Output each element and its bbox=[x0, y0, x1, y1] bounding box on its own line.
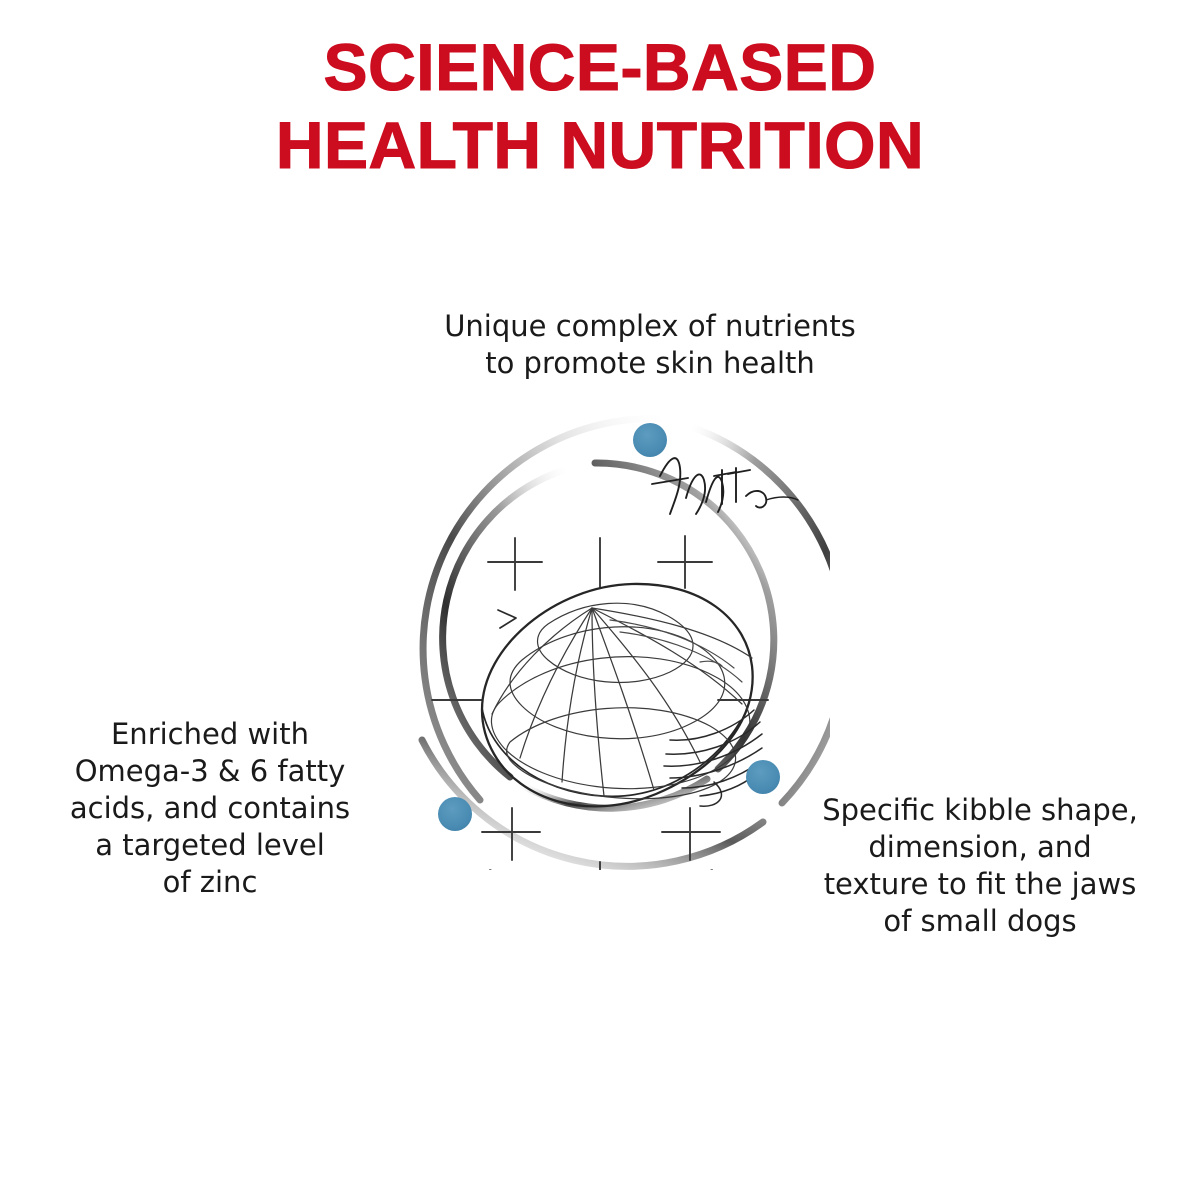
footer bbox=[0, 1090, 1200, 1200]
page-title-line-2: HEALTH NUTRITION bbox=[0, 106, 1200, 184]
outer-ring bbox=[422, 419, 830, 867]
page-title-line-1: SCIENCE-BASED bbox=[0, 28, 1200, 106]
marker-dot-bottom-left[interactable] bbox=[438, 797, 472, 831]
kibble-highlight bbox=[610, 620, 742, 682]
marker-dot-top[interactable] bbox=[633, 423, 667, 457]
kibble-diagram bbox=[370, 410, 830, 870]
designer-signature bbox=[652, 458, 798, 514]
kibble-arrow-tick bbox=[498, 610, 516, 628]
marker-dot-right[interactable] bbox=[746, 760, 780, 794]
page-title: SCIENCE-BASED HEALTH NUTRITION bbox=[0, 28, 1200, 184]
page-root: SCIENCE-BASED HEALTH NUTRITION Unique co… bbox=[0, 0, 1200, 1200]
kibble-outline bbox=[482, 584, 753, 806]
callout-text-nutrients: Unique complex of nutrients to promote s… bbox=[350, 308, 950, 382]
callout-text-omega-zinc: Enriched with Omega-3 & 6 fatty acids, a… bbox=[20, 716, 400, 901]
inner-ring-arc-right bbox=[595, 463, 774, 769]
callout-text-kibble-shape: Specific kibble shape, dimension, and te… bbox=[780, 792, 1180, 940]
